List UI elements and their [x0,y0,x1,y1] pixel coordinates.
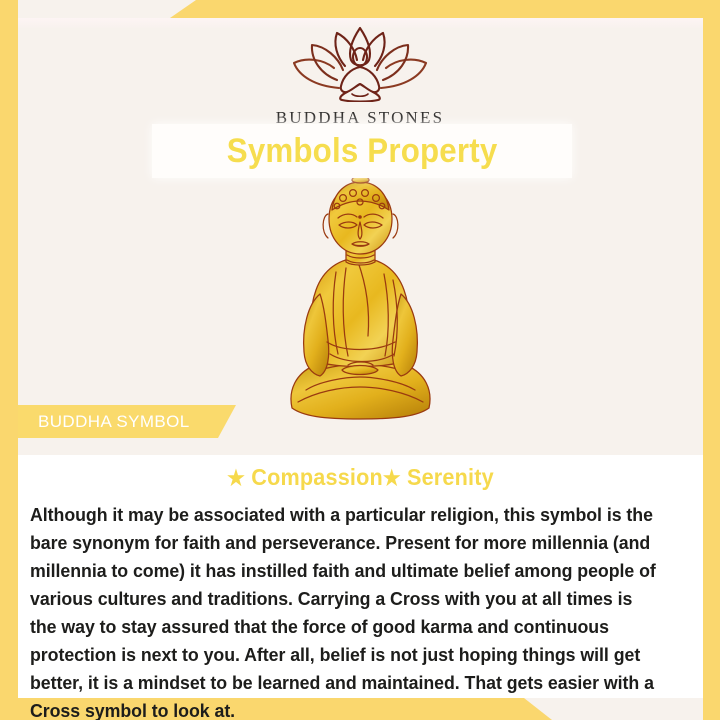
buddha-symbol-ribbon: BUDDHA SYMBOL [18,405,236,438]
attributes-heading: ★ Compassion★ Serenity [39,464,683,491]
lotus-meditating-figure-icon [0,24,720,102]
brand-logo-block: BUDDHA STONES [0,24,720,128]
page-title-band: Symbols Property [152,124,572,178]
description-card: ★ Compassion★ Serenity Although it may b… [18,455,703,698]
buddha-symbol-label: BUDDHA SYMBOL [18,412,190,432]
page-title: Symbols Property [227,132,498,171]
golden-buddha-statue-image [258,176,463,426]
star-icon-right: ★ [383,467,401,490]
description-paragraph: Although it may be associated with a par… [30,501,661,720]
infographic-page: BUDDHA STONES Symbols Property [0,0,720,720]
frame-top-angled-bar [0,0,720,18]
star-icon-left: ★ [227,467,245,490]
attribute-compassion: Compassion [251,464,383,490]
attribute-serenity: Serenity [407,464,494,490]
